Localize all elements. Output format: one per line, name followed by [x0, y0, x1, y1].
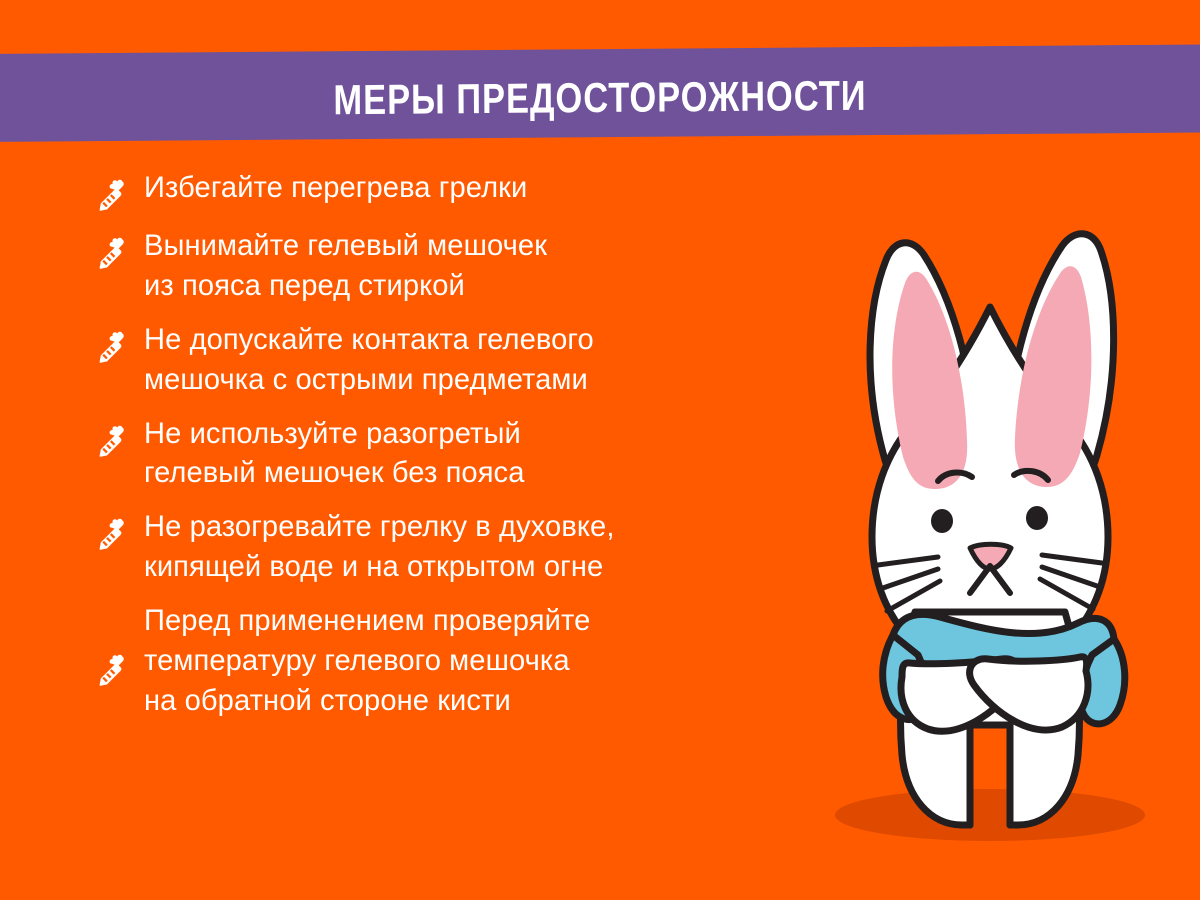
- list-item-label: Не допускайте контакта гелевого мешочка …: [144, 320, 594, 400]
- list-item: Не используйте разогретый гелевый мешоче…: [92, 414, 792, 494]
- carrot-icon: [92, 418, 132, 458]
- carrot-icon: [92, 324, 132, 364]
- list-item-label: Не используйте разогретый гелевый мешоче…: [144, 414, 524, 494]
- carrot-icon: [92, 647, 132, 687]
- rabbit-mascot: [790, 165, 1190, 875]
- list-item-label: Вынимайте гелевый мешочек из пояса перед…: [144, 226, 547, 306]
- right-eye: [1026, 506, 1048, 530]
- list-item-label: Не разогревайте грелку в духовке, кипяще…: [144, 507, 615, 587]
- carrot-icon: [92, 230, 132, 270]
- list-item-label: Избегайте перегрева грелки: [144, 168, 527, 208]
- precautions-list: Избегайте перегрева грелки Вынимайте гел…: [92, 168, 792, 735]
- list-item: Вынимайте гелевый мешочек из пояса перед…: [92, 226, 792, 306]
- ground-shadow: [835, 789, 1145, 841]
- left-ear-inner: [892, 272, 967, 489]
- list-item: Не допускайте контакта гелевого мешочка …: [92, 320, 792, 400]
- list-item: Избегайте перегрева грелки: [92, 168, 792, 212]
- page-title: МЕРЫ ПРЕДОСТОРОЖНОСТИ: [108, 52, 1092, 144]
- list-item: Не разогревайте грелку в духовке, кипяще…: [92, 507, 792, 587]
- poster: МЕРЫ ПРЕДОСТОРОЖНОСТИ Избегайте перегрев…: [0, 0, 1200, 900]
- left-eye: [931, 509, 953, 533]
- list-item-label: Перед применением проверяйте температуру…: [144, 601, 590, 721]
- carrot-icon: [92, 511, 132, 551]
- list-item: Перед применением проверяйте температуру…: [92, 601, 792, 721]
- carrot-icon: [92, 172, 132, 212]
